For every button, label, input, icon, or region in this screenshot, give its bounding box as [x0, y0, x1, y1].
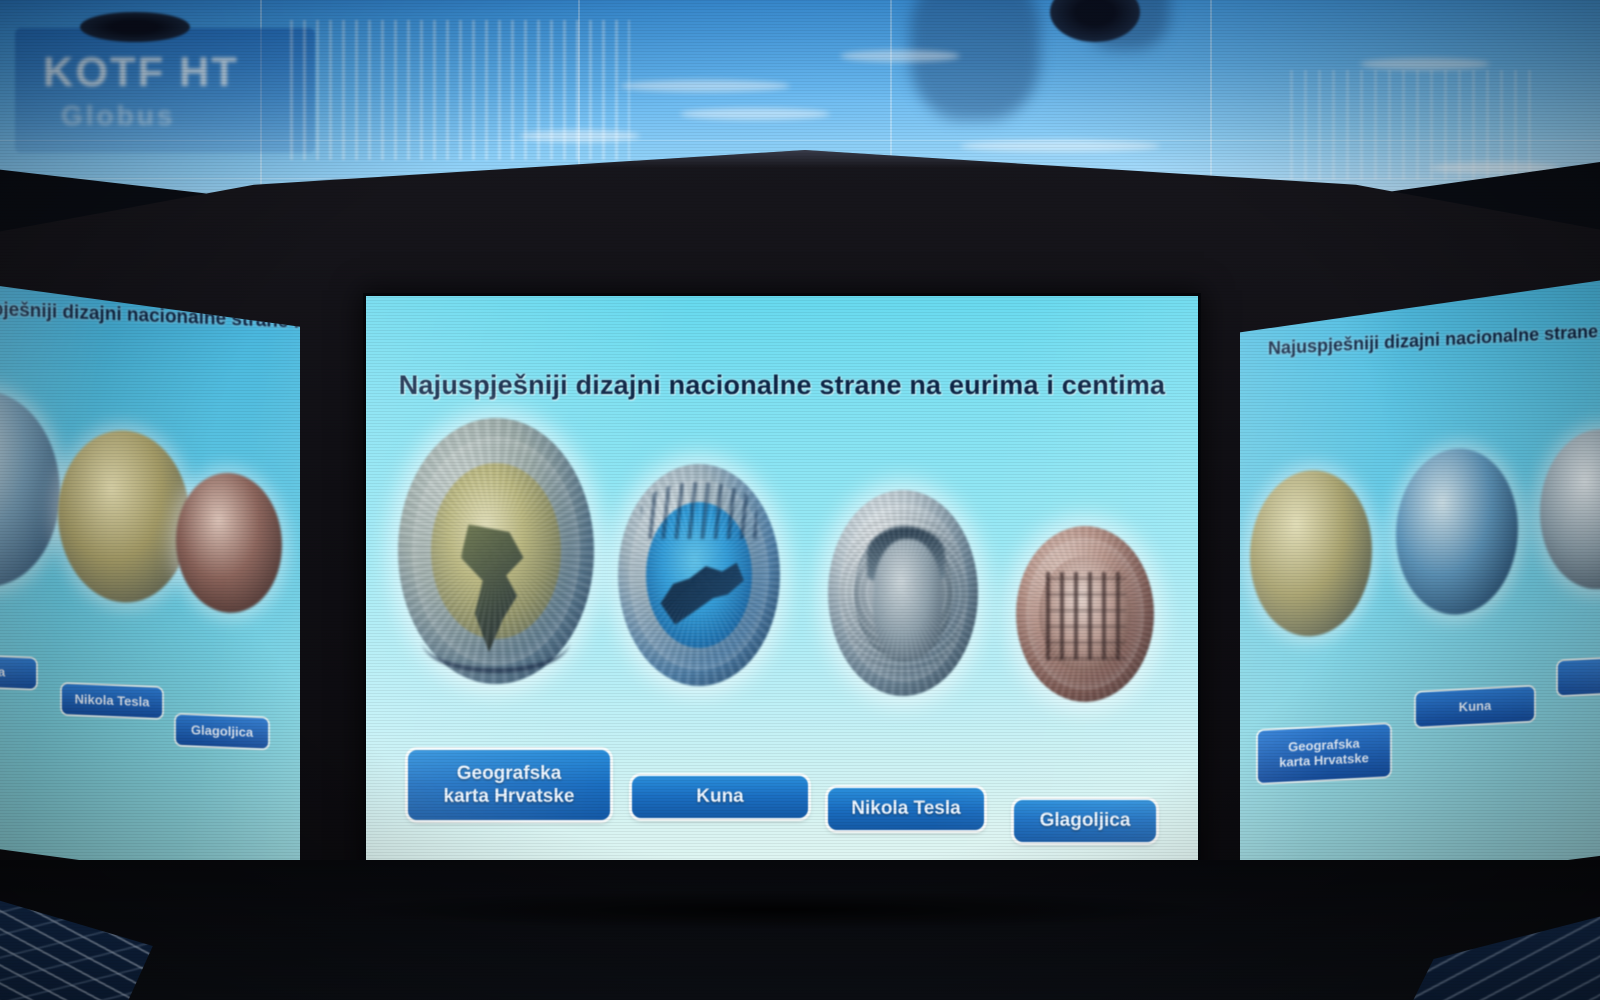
- label-chip-glagoljica[interactable]: Glagoljica: [1014, 800, 1156, 842]
- right-panel-chip-tesla[interactable]: Nik: [1558, 656, 1600, 696]
- studio-scene: KOTF HT Globus Najuspješniji dizajni nac…: [0, 0, 1600, 1000]
- label-chip-kuna[interactable]: Kuna: [632, 776, 808, 818]
- coin-1-euro-kuna: [618, 464, 780, 686]
- coin-glagoljica: [1016, 526, 1154, 702]
- right-panel-coin-1: [1250, 467, 1372, 639]
- right-panel-chip-geografska[interactable]: Geografska karta Hrvatske: [1258, 724, 1390, 783]
- slide-title: Najuspješniji dizajni nacionalne strane …: [366, 370, 1198, 401]
- ceiling-spotlight: [80, 12, 190, 42]
- label-chip-nikola-tesla[interactable]: Nikola Tesla: [828, 788, 984, 830]
- coin-gallery: [386, 436, 1178, 736]
- left-panel-coin-1: [0, 387, 60, 589]
- right-panel-title: Najuspješniji dizajni nacionalne strane …: [1268, 317, 1600, 360]
- left-display-panel[interactable]: Najuspješniji dizajni nacionalne strane …: [0, 250, 300, 890]
- right-display-panel[interactable]: Najuspješniji dizajni nacionalne strane …: [1240, 262, 1600, 902]
- right-panel-coin-3: [1540, 426, 1600, 592]
- left-panel-coin-3: [176, 471, 282, 615]
- left-panel-chip-kuna[interactable]: Kuna: [0, 655, 36, 689]
- center-display-panel[interactable]: Najuspješniji dizajni nacionalne strane …: [366, 296, 1198, 900]
- left-panel-chip-tesla[interactable]: Nikola Tesla: [62, 684, 162, 718]
- right-panel-chip-line2: karta Hrvatske: [1279, 751, 1369, 771]
- coin-label-row: Geografska karta Hrvatske Kuna Nikola Te…: [366, 758, 1198, 858]
- label-chip-geografska-karta-hrvatske[interactable]: Geografska karta Hrvatske: [408, 750, 610, 820]
- coin-2-euro-map: [398, 418, 594, 684]
- right-panel-chip-kuna[interactable]: Kuna: [1416, 687, 1534, 727]
- ceiling-logo-line2: Globus: [61, 100, 175, 132]
- left-panel-coin-2: [58, 428, 190, 606]
- right-panel-coin-2: [1396, 445, 1518, 617]
- cabinet-base-shadow: [330, 890, 1230, 930]
- ceiling-logo-line1: KOTF HT: [43, 48, 239, 96]
- studio-floor: [0, 860, 1600, 1000]
- ceiling-logo: KOTF HT Globus: [15, 28, 315, 153]
- label-chip-line1: Geografska: [444, 762, 575, 785]
- label-chip-line2: karta Hrvatske: [444, 785, 575, 808]
- coin-nikola-tesla: [828, 490, 978, 696]
- left-panel-chip-glagoljica[interactable]: Glagoljica: [176, 715, 268, 749]
